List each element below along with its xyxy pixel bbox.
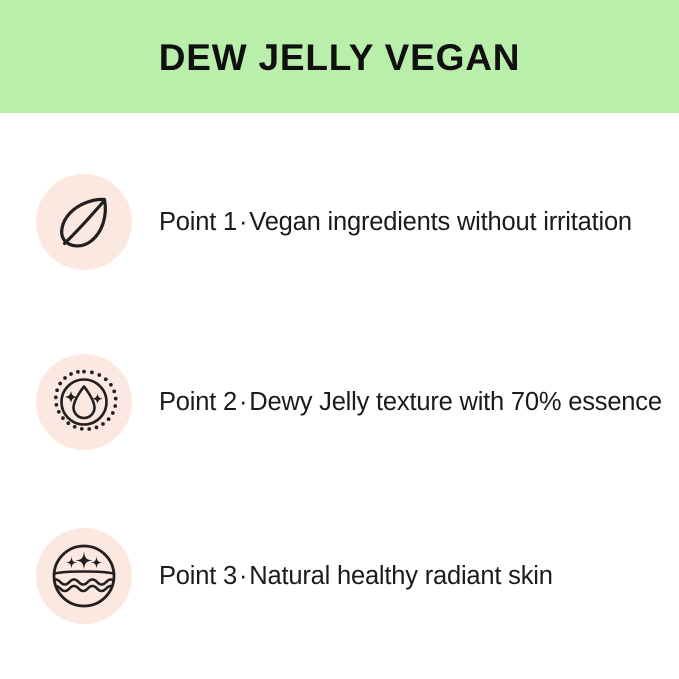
water-droplet-sparkle-icon xyxy=(48,366,120,438)
feature-row: Point 3·Natural healthy radiant skin xyxy=(0,528,679,624)
feature-text: Point 3·Natural healthy radiant skin xyxy=(159,561,553,592)
feature-text: Point 2·Dewy Jelly texture with 70% esse… xyxy=(159,387,662,418)
feature-description: Natural healthy radiant skin xyxy=(249,562,552,590)
feature-row: Point 2·Dewy Jelly texture with 70% esse… xyxy=(0,354,679,450)
feature-description: Dewy Jelly texture with 70% essence xyxy=(249,388,662,416)
feature-point-label: Point 1 xyxy=(159,208,237,236)
feature-separator: · xyxy=(237,562,249,590)
feature-separator: · xyxy=(237,388,249,416)
leaf-icon-badge xyxy=(36,174,132,270)
water-droplet-sparkle-icon-badge xyxy=(36,354,132,450)
feature-list: Point 1·Vegan ingredients without irrita… xyxy=(0,113,679,679)
feature-row: Point 1·Vegan ingredients without irrita… xyxy=(0,174,679,270)
leaf-icon xyxy=(50,188,118,256)
feature-point-label: Point 3 xyxy=(159,562,237,590)
header-banner: DEW JELLY VEGAN xyxy=(0,0,679,113)
feature-separator: · xyxy=(237,208,249,236)
radiant-skin-globe-icon-badge xyxy=(36,528,132,624)
feature-description: Vegan ingredients without irritation xyxy=(249,208,632,236)
feature-point-label: Point 2 xyxy=(159,388,237,416)
feature-text: Point 1·Vegan ingredients without irrita… xyxy=(159,207,632,238)
radiant-skin-globe-icon xyxy=(49,541,119,611)
product-feature-card: DEW JELLY VEGAN Point 1·Vegan ingredient… xyxy=(0,0,679,679)
page-title: DEW JELLY VEGAN xyxy=(159,39,521,76)
